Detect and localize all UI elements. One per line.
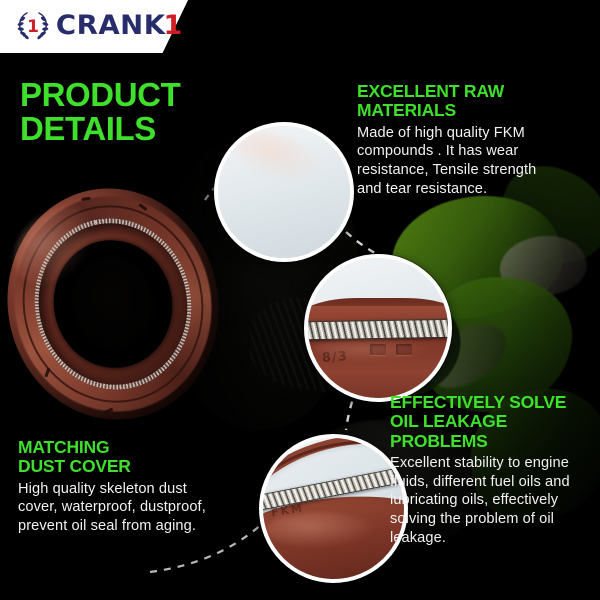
feature-heading: MATCHING DUST COVER	[18, 438, 230, 477]
brand-wordmark: CRANK 1	[57, 10, 183, 41]
feature-body: Made of high quality FKM compounds . It …	[357, 124, 565, 199]
feature-heading-line2: OIL LEAKAGE	[390, 412, 588, 431]
feature-heading-line2: DUST COVER	[18, 457, 230, 476]
page-title-line2: DETAILS	[20, 112, 180, 146]
callout-seal-edge-closeup	[214, 122, 354, 262]
product-details-infographic: 8/3 FKM	[0, 0, 600, 600]
brand-accent-number: 1	[164, 10, 183, 41]
feature-body: Excellent stability to engine fluids, di…	[390, 454, 588, 548]
feature-block-oil-leakage: EFFECTIVELY SOLVE OIL LEAKAGE PROBLEMS E…	[390, 393, 588, 548]
feature-heading-line1: MATCHING	[18, 438, 230, 457]
callout-gloss	[265, 512, 375, 548]
feature-block-dust-cover: MATCHING DUST COVER High quality skeleto…	[18, 438, 230, 536]
feature-body: High quality skeleton dust cover, waterp…	[18, 480, 230, 536]
brand-name: CRANK	[56, 10, 166, 41]
feature-heading-line2: MATERIALS	[357, 101, 565, 120]
page-title-line1: PRODUCT	[20, 78, 180, 112]
feature-heading-line1: EFFECTIVELY SOLVE	[390, 393, 588, 412]
laurel-wreath-icon: 1	[14, 8, 52, 42]
brand-logo[interactable]: 1 CRANK 1	[14, 8, 183, 42]
feature-heading: EXCELLENT RAW MATERIALS	[357, 82, 565, 121]
svg-text:1: 1	[27, 17, 39, 37]
callout-angled-seal-closeup: FKM	[259, 434, 408, 583]
page-title: PRODUCT DETAILS	[20, 78, 180, 145]
feature-heading-line1: EXCELLENT RAW	[357, 82, 565, 101]
callout-gloss	[314, 336, 434, 362]
callout-garter-spring-closeup: 8/3	[304, 254, 452, 402]
feature-block-raw-materials: EXCELLENT RAW MATERIALS Made of high qua…	[357, 82, 565, 199]
feature-heading: EFFECTIVELY SOLVE OIL LEAKAGE PROBLEMS	[390, 393, 588, 451]
feature-heading-line3: PROBLEMS	[390, 432, 588, 451]
